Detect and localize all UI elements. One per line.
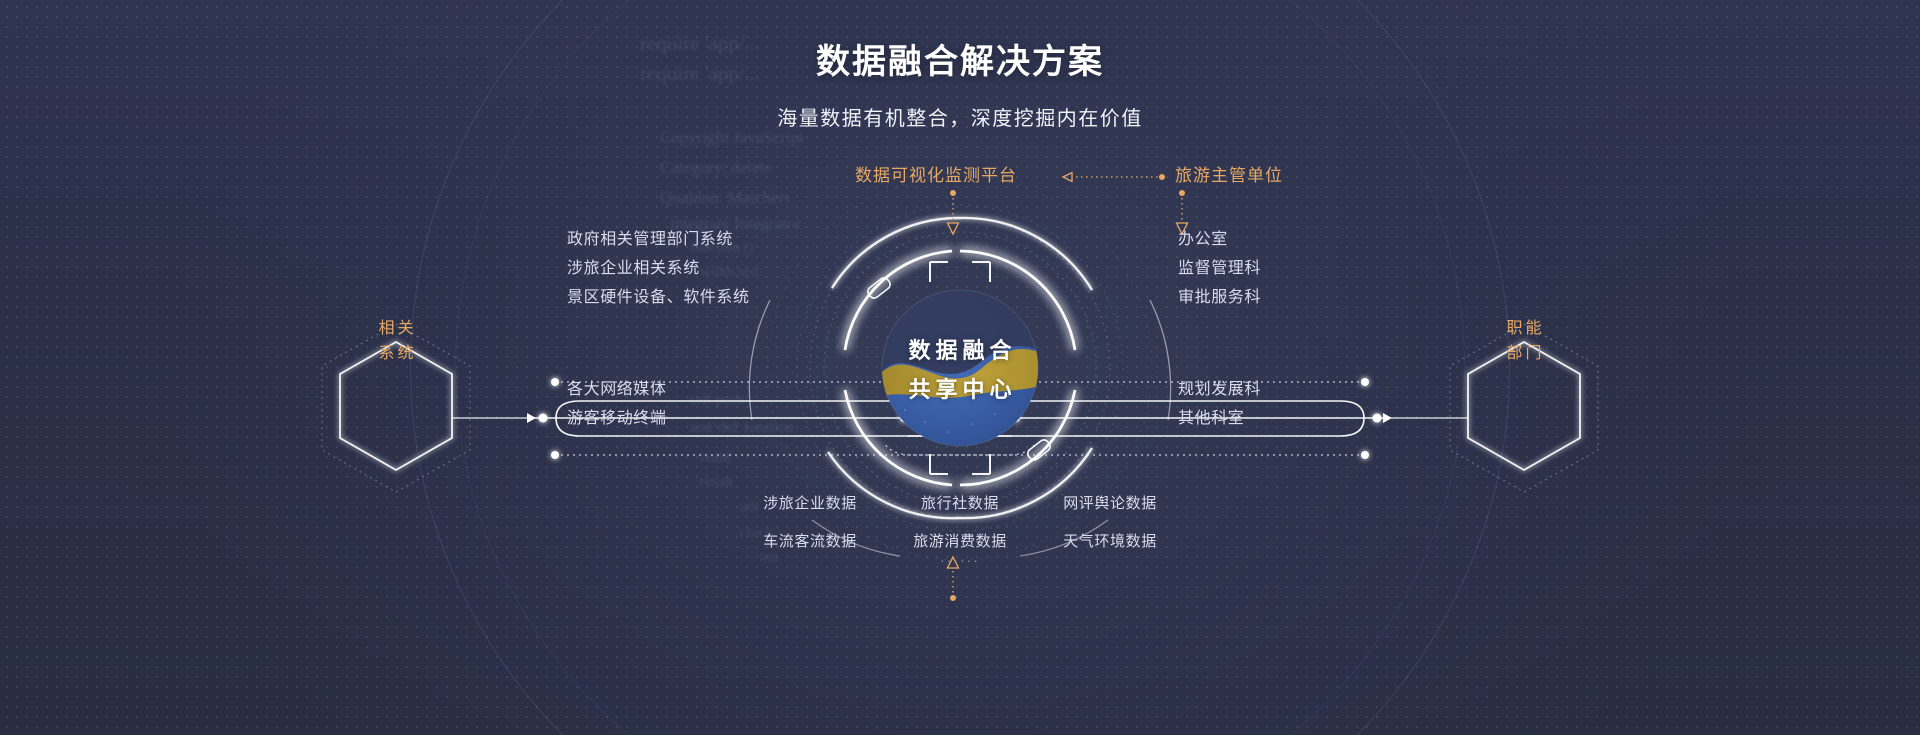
hexagon-related-systems[interactable]: 相关 系统 — [340, 281, 452, 403]
center-core-text: 数据融合 共享中心 — [660, 168, 1260, 568]
hexagon-left-line2: 系统 — [375, 342, 416, 367]
hexagon-left-line1: 相关 — [375, 317, 416, 342]
page-title: 数据融合解决方案 — [0, 34, 1920, 83]
hexagon-right-line2: 部门 — [1503, 342, 1544, 367]
center-title-line1: 数据融合 — [903, 333, 1016, 365]
page-subtitle: 海量数据有机整合，深度挖掘内在价值 — [0, 102, 1920, 131]
center-title-line2: 共享中心 — [903, 372, 1016, 404]
page-header: 数据融合解决方案 海量数据有机整合，深度挖掘内在价值 — [0, 34, 1920, 131]
hexagon-left-label: 相关 系统 — [340, 281, 452, 403]
source-label-network-media[interactable]: 各大网络媒体 — [567, 375, 667, 399]
hexagon-right-line1: 职能 — [1503, 317, 1544, 342]
hexagon-functional-departments[interactable]: 职能 部门 — [1468, 281, 1580, 403]
center-core[interactable]: 数据融合 共享中心 — [660, 168, 1260, 568]
hexagon-right-label: 职能 部门 — [1468, 281, 1580, 403]
source-label-tourist-mobile-terminal[interactable]: 游客移动终端 — [567, 404, 667, 428]
diagram-stage: require 'app/...require 'app/...Copyrigh… — [0, 0, 1920, 735]
